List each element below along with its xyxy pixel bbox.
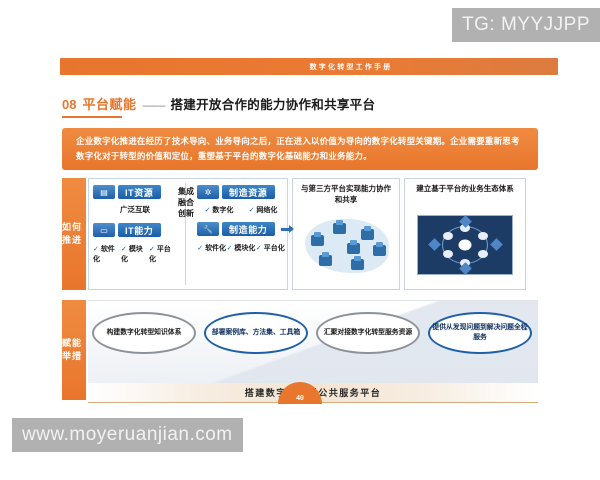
tick-item: 平台化: [256, 243, 285, 253]
title-main: 搭建开放合作的能力协作和共享平台: [170, 94, 375, 113]
it-capability-ticks: 软件化 模块化 平台化: [93, 244, 177, 264]
tick-item: 模块化: [227, 243, 256, 253]
server-icon: ▤: [93, 185, 115, 199]
mfg-capability-capsule: 🔧 制造能力: [197, 222, 285, 236]
tick-item: 模块化: [121, 244, 149, 264]
title-number: 08: [62, 97, 76, 112]
header-band-title: 数字化转型工作手册: [310, 62, 393, 72]
it-capability-label: IT能力: [118, 223, 161, 237]
measure-item-1[interactable]: 构建数字化转型知识体系: [92, 312, 196, 354]
manufacturing-column: ✲ 制造资源 数字化 网络化 🔧 制造能力 软件化: [197, 185, 285, 253]
header-band: 数字化转型工作手册: [60, 58, 558, 75]
tick-item: 网络化: [249, 205, 278, 215]
measure-item-2[interactable]: 部署案例库、方法集、工具箱: [204, 312, 308, 354]
it-capability-capsule: ▭ IT能力: [93, 223, 177, 237]
it-resource-capsule: ▤ IT资源: [93, 185, 177, 199]
it-resource-subtitle: 广泛互联: [93, 204, 177, 215]
title-underline: [62, 116, 122, 118]
title-dash: ——: [142, 98, 164, 112]
panel-ecosystem-title: 建立基于平台的业务生态体系: [405, 179, 525, 198]
panel-third-party-title: 与第三方平台实现能力协作和共享: [293, 179, 399, 208]
tick-item: 数字化: [205, 205, 234, 215]
page-title: 08 平台赋能 —— 搭建开放合作的能力协作和共享平台: [62, 94, 375, 113]
arrow-right-icon: [281, 225, 294, 233]
slide-canvas: 数字化转型工作手册 08 平台赋能 —— 搭建开放合作的能力协作和共享平台 企业…: [0, 38, 600, 438]
tick-item: 软件化: [93, 244, 121, 264]
wrench-icon: 🔧: [197, 222, 219, 236]
gear-icon: ✲: [197, 185, 219, 199]
panel-ecosystem: 建立基于平台的业务生态体系: [404, 178, 526, 290]
section-how-tab-label: 如何推进: [62, 221, 86, 247]
tick-item: 软件化: [197, 243, 226, 253]
panel-row: 集成融合创新 ▤ IT资源 广泛互联 ▭ IT能力 软件化: [88, 178, 538, 290]
section-measures-tab-label: 赋能举措: [62, 337, 86, 363]
slide-page: TG: MYYJJPP www.moyeruanjian.com 数字化转型工作…: [0, 0, 600, 480]
watermark-top: TG: MYYJJPP: [452, 8, 600, 42]
mfg-resource-label: 制造资源: [222, 185, 275, 199]
it-resource-label: IT资源: [118, 185, 161, 199]
section-how-to-advance: 如何推进 集成融合创新 ▤ IT资源 广泛互联 ▭: [62, 178, 538, 290]
section-measures-tab: 赋能举措: [62, 300, 86, 400]
panel-resources: 集成融合创新 ▤ IT资源 广泛互联 ▭ IT能力 软件化: [88, 178, 288, 290]
mfg-capability-ticks: 软件化 模块化 平台化: [197, 243, 285, 253]
laptop-icon: ▭: [93, 223, 115, 237]
ecosystem-ring-graphic: [417, 215, 513, 275]
mfg-capability-label: 制造能力: [222, 222, 275, 236]
measures-list: 构建数字化转型知识体系 部署案例库、方法集、工具箱 汇聚对接数字化转型服务资源 …: [92, 310, 534, 356]
intro-box: 企业数字化推进在经历了技术导向、业务导向之后，正在进入以价值为导向的数字化转型关…: [62, 128, 538, 170]
network-cloud-graphic: [303, 213, 391, 275]
measure-item-3[interactable]: 汇聚对接数字化转型服务资源: [316, 312, 420, 354]
measure-item-4[interactable]: 提供从发现问题到解决问题全程服务: [428, 312, 532, 354]
mfg-resource-capsule: ✲ 制造资源: [197, 185, 285, 199]
integration-divider-label: 集成融合创新: [177, 187, 195, 219]
section-how-tab: 如何推进: [62, 178, 86, 290]
tick-item: 平台化: [149, 244, 177, 264]
panel-third-party: 与第三方平台实现能力协作和共享: [292, 178, 400, 290]
watermark-bottom: www.moyeruanjian.com: [12, 418, 243, 452]
title-keyword: 平台赋能: [82, 94, 136, 113]
it-column: ▤ IT资源 广泛互联 ▭ IT能力 软件化 模块化 平台化: [93, 185, 177, 264]
mfg-resource-ticks: 数字化 网络化: [197, 205, 285, 215]
